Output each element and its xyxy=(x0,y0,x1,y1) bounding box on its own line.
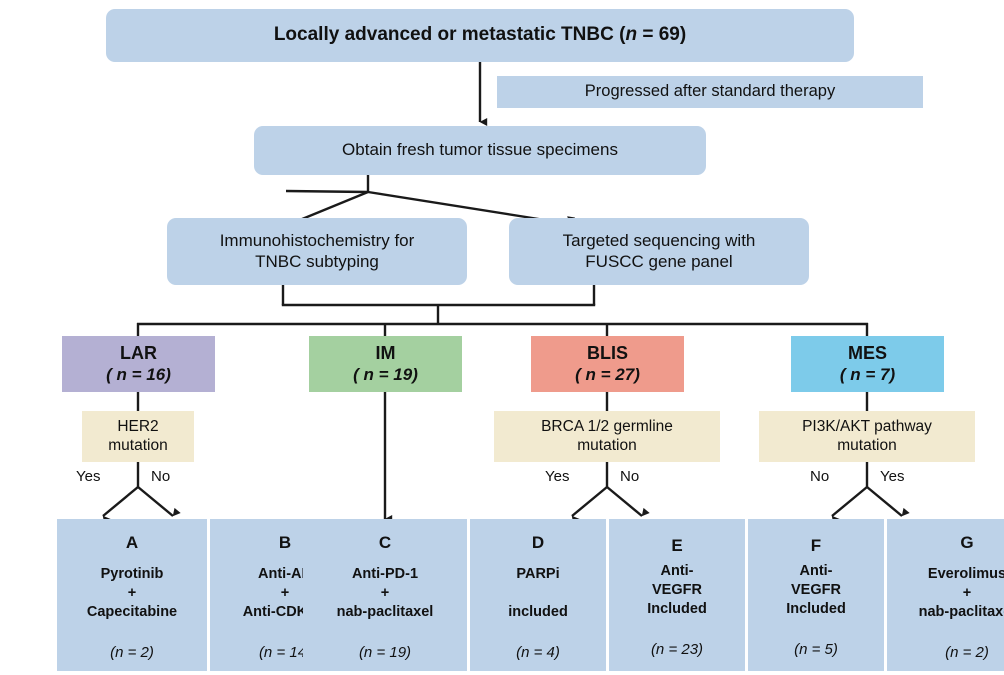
biomarker-her2-line1: HER2 xyxy=(117,418,158,436)
arm-b-letter: B xyxy=(279,533,291,553)
branch-label-brca-no: No xyxy=(620,468,639,485)
progressed-note-label: Progressed after standard therapy xyxy=(585,82,835,101)
subtype-box-lar: LAR ( n = 16) xyxy=(62,336,215,392)
assay-sequencing-line1: Targeted sequencing with xyxy=(563,231,756,251)
arm-d-body: PARPi included xyxy=(508,565,568,622)
arm-f-body: Anti- VEGFR Included xyxy=(786,562,846,619)
assay-ihc-box: Immunohistochemistry for TNBC subtyping xyxy=(167,218,467,285)
treatment-arm-c: C Anti-PD-1 + nab-paclitaxel (n = 19) xyxy=(303,519,467,671)
biomarker-box-pi3k: PI3K/AKT pathway mutation xyxy=(759,411,975,462)
treatment-arm-a: A Pyrotinib + Capecitabine (n = 2) xyxy=(57,519,207,671)
branch-label-her2-no: No xyxy=(151,468,170,485)
arm-d-n: (n = 4) xyxy=(516,644,560,661)
treatment-arm-f: F Anti- VEGFR Included (n = 5) xyxy=(748,519,884,671)
arm-c-body: Anti-PD-1 + nab-paclitaxel xyxy=(337,565,434,622)
arm-c-letter: C xyxy=(379,533,391,553)
arm-g-letter: G xyxy=(960,533,973,553)
arm-e-letter: E xyxy=(671,536,682,556)
progressed-note-box: Progressed after standard therapy xyxy=(497,76,923,108)
subtype-name-blis: BLIS xyxy=(587,343,628,364)
assay-ihc-line2: TNBC subtyping xyxy=(255,252,379,272)
arm-a-body: Pyrotinib + Capecitabine xyxy=(87,565,177,622)
subtype-box-im: IM ( n = 19) xyxy=(309,336,462,392)
biomarker-her2-line2: mutation xyxy=(108,437,167,455)
assay-ihc-line1: Immunohistochemistry for xyxy=(220,231,415,251)
arm-a-n: (n = 2) xyxy=(110,644,154,661)
subtype-name-lar: LAR xyxy=(120,343,157,364)
assay-sequencing-box: Targeted sequencing with FUSCC gene pane… xyxy=(509,218,809,285)
arm-f-letter: F xyxy=(811,536,821,556)
arm-e-n: (n = 23) xyxy=(651,641,703,658)
biomarker-brca-line2: mutation xyxy=(577,437,636,455)
biomarker-box-brca: BRCA 1/2 germline mutation xyxy=(494,411,720,462)
subtype-box-mes: MES ( n = 7) xyxy=(791,336,944,392)
flow-diagram: Locally advanced or metastatic TNBC (n =… xyxy=(0,0,1004,675)
obtain-tissue-label: Obtain fresh tumor tissue specimens xyxy=(342,140,618,160)
enrollment-label: Locally advanced or metastatic TNBC (n =… xyxy=(274,24,686,46)
subtype-n-lar: ( n = 16) xyxy=(106,365,171,385)
subtype-n-im: ( n = 19) xyxy=(353,365,418,385)
biomarker-pi3k-line1: PI3K/AKT pathway xyxy=(802,418,932,436)
arm-g-n: (n = 2) xyxy=(945,644,989,661)
arm-e-body: Anti- VEGFR Included xyxy=(647,562,707,619)
subtype-box-blis: BLIS ( n = 27) xyxy=(531,336,684,392)
biomarker-pi3k-line2: mutation xyxy=(837,437,896,455)
subtype-name-mes: MES xyxy=(848,343,887,364)
subtype-n-blis: ( n = 27) xyxy=(575,365,640,385)
treatment-arm-g: G Everolimus + nab-paclitaxel (n = 2) xyxy=(887,519,1004,671)
subtype-n-mes: ( n = 7) xyxy=(840,365,895,385)
assay-sequencing-line2: FUSCC gene panel xyxy=(585,252,732,272)
obtain-tissue-box: Obtain fresh tumor tissue specimens xyxy=(254,126,706,175)
branch-label-pi3k-no: No xyxy=(810,468,829,485)
treatment-arm-d: D PARPi included (n = 4) xyxy=(470,519,606,671)
arm-d-letter: D xyxy=(532,533,544,553)
treatment-arm-e: E Anti- VEGFR Included (n = 23) xyxy=(609,519,745,671)
branch-label-her2-yes: Yes xyxy=(76,468,100,485)
arm-c-n: (n = 19) xyxy=(359,644,411,661)
branch-label-pi3k-yes: Yes xyxy=(880,468,904,485)
arm-f-n: (n = 5) xyxy=(794,641,838,658)
biomarker-brca-line1: BRCA 1/2 germline xyxy=(541,418,673,436)
arm-g-body: Everolimus + nab-paclitaxel xyxy=(919,565,1004,622)
biomarker-box-her2: HER2 mutation xyxy=(82,411,194,462)
enrollment-box: Locally advanced or metastatic TNBC (n =… xyxy=(106,9,854,62)
arm-a-letter: A xyxy=(126,533,138,553)
branch-label-brca-yes: Yes xyxy=(545,468,569,485)
subtype-name-im: IM xyxy=(376,343,396,364)
